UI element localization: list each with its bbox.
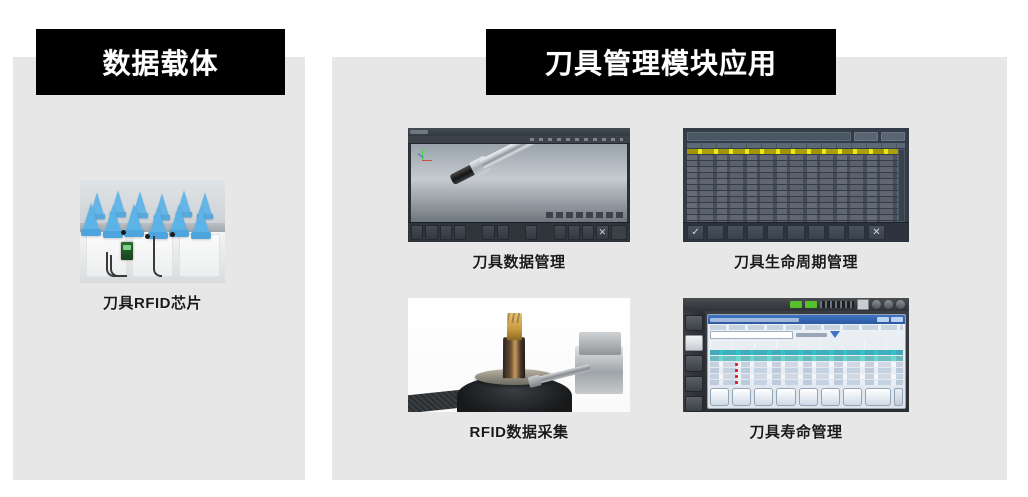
card-tool-data-management[interactable]: 刀具数据管理 xyxy=(408,128,630,272)
right-section-banner: 刀具管理模块应用 xyxy=(486,29,836,95)
table-row xyxy=(687,191,905,196)
close-icon xyxy=(868,225,885,240)
left-section-banner-label: 数据载体 xyxy=(102,42,218,82)
tool-data-cad-screenshot xyxy=(408,128,630,242)
table-row xyxy=(687,167,905,172)
tool-life-table-header xyxy=(710,340,903,349)
window-button xyxy=(857,299,869,310)
cad-tool-button xyxy=(497,225,509,240)
table-row-selected xyxy=(687,149,905,154)
table-row xyxy=(710,362,903,367)
cad-tool-button xyxy=(425,225,437,240)
lifecycle-footer-toolbar xyxy=(683,222,909,242)
right-section-banner-label: 刀具管理模块应用 xyxy=(545,42,777,82)
window-title-bar xyxy=(708,315,905,324)
tool-3d-model xyxy=(448,144,582,188)
table-row xyxy=(710,380,903,385)
left-section-banner: 数据载体 xyxy=(36,29,285,95)
cad-dimension-readout xyxy=(546,212,623,218)
action-button xyxy=(776,388,795,406)
card-tool-lifecycle-management[interactable]: 刀具生命周期管理 xyxy=(683,128,909,272)
footer-button xyxy=(828,225,845,240)
table-row-selected xyxy=(710,350,903,355)
table-row-highlighted xyxy=(710,356,903,361)
cad-tool-button xyxy=(554,225,566,240)
status-readout xyxy=(820,301,854,308)
tool-life-app-frame xyxy=(683,298,909,412)
table-row xyxy=(710,368,903,373)
footer-button xyxy=(707,225,724,240)
footer-button xyxy=(808,225,825,240)
status-icon xyxy=(872,300,881,309)
cad-tool-button xyxy=(440,225,452,240)
tool-life-sidebar xyxy=(683,311,705,412)
cad-tool-button xyxy=(568,225,580,240)
tool-life-status-bar xyxy=(683,298,909,311)
cad-minimize-button xyxy=(611,225,628,240)
action-button xyxy=(799,388,818,406)
action-button xyxy=(843,388,862,406)
table-row xyxy=(710,374,903,379)
table-row xyxy=(687,203,905,208)
status-indicator-green xyxy=(805,301,817,308)
footer-button xyxy=(787,225,804,240)
confirm-icon xyxy=(687,225,704,240)
table-row xyxy=(687,173,905,178)
spinner-control[interactable] xyxy=(894,388,903,406)
rfid-chip-photo-graphic xyxy=(80,180,225,283)
cad-close-icon xyxy=(596,225,608,240)
sidebar-icon-button xyxy=(685,376,703,392)
cad-toolbar xyxy=(408,222,630,242)
sidebar-icon-button-active xyxy=(685,335,703,351)
cad-tool-button xyxy=(525,225,537,240)
power-icon xyxy=(896,300,905,309)
rfid-capture-photo-graphic xyxy=(408,298,630,412)
lifecycle-table-header xyxy=(687,143,905,148)
card-rfid-data-capture[interactable]: RFID数据采集 xyxy=(408,298,630,442)
slide-root: { "slide": { "background_color": "#fffff… xyxy=(0,0,1028,497)
sidebar-icon-button xyxy=(685,355,703,371)
table-row xyxy=(687,215,905,220)
status-icon xyxy=(884,300,893,309)
footer-button xyxy=(848,225,865,240)
cad-tool-button xyxy=(482,225,494,240)
action-button xyxy=(865,388,891,406)
tool-lifecycle-table-screenshot xyxy=(683,128,909,242)
action-button xyxy=(710,388,729,406)
cad-tool-button xyxy=(411,225,423,240)
tool-life-table-body xyxy=(710,350,903,386)
funnel-icon xyxy=(830,331,840,338)
cad-menu-bar xyxy=(408,136,630,144)
card-caption-rfid-data-capture: RFID数据采集 xyxy=(470,421,569,442)
table-row xyxy=(687,209,905,214)
action-button xyxy=(821,388,840,406)
lifecycle-table-body xyxy=(687,149,905,222)
card-caption-tool-rfid-chip: 刀具RFID芯片 xyxy=(103,292,202,313)
table-row xyxy=(687,185,905,190)
card-tool-life-management[interactable]: 刀具寿命管理 xyxy=(683,298,909,442)
action-button xyxy=(732,388,751,406)
table-row xyxy=(687,179,905,184)
cad-tool-button xyxy=(582,225,594,240)
card-caption-tool-life-management: 刀具寿命管理 xyxy=(749,421,842,442)
sidebar-icon-button xyxy=(685,315,703,331)
table-row xyxy=(687,161,905,166)
tool-life-management-screenshot xyxy=(683,298,909,412)
filter-label xyxy=(796,333,827,337)
card-caption-tool-data-management: 刀具数据管理 xyxy=(472,251,565,272)
table-row xyxy=(687,155,905,160)
window-tabs xyxy=(710,325,903,330)
status-indicator-green xyxy=(790,301,802,308)
footer-button xyxy=(727,225,744,240)
sidebar-icon-button xyxy=(685,396,703,412)
display-array-select[interactable] xyxy=(710,331,793,339)
tool-rfid-chip-photo xyxy=(80,180,225,283)
footer-button xyxy=(747,225,764,240)
card-tool-rfid-chip[interactable]: 刀具RFID芯片 xyxy=(80,180,225,313)
cad-tool-button xyxy=(454,225,466,240)
footer-button xyxy=(767,225,784,240)
tool-life-action-bar xyxy=(710,388,903,406)
action-button xyxy=(754,388,773,406)
filter-bar xyxy=(710,331,903,338)
card-caption-tool-lifecycle-management: 刀具生命周期管理 xyxy=(734,251,858,272)
cad-viewport xyxy=(411,144,627,222)
table-row xyxy=(687,197,905,202)
axis-triad-icon xyxy=(417,149,433,165)
lifecycle-search-bar xyxy=(687,132,905,141)
tool-life-window xyxy=(707,314,906,409)
lifecycle-scrollbar[interactable] xyxy=(898,149,905,222)
rfid-data-capture-photo xyxy=(408,298,630,412)
